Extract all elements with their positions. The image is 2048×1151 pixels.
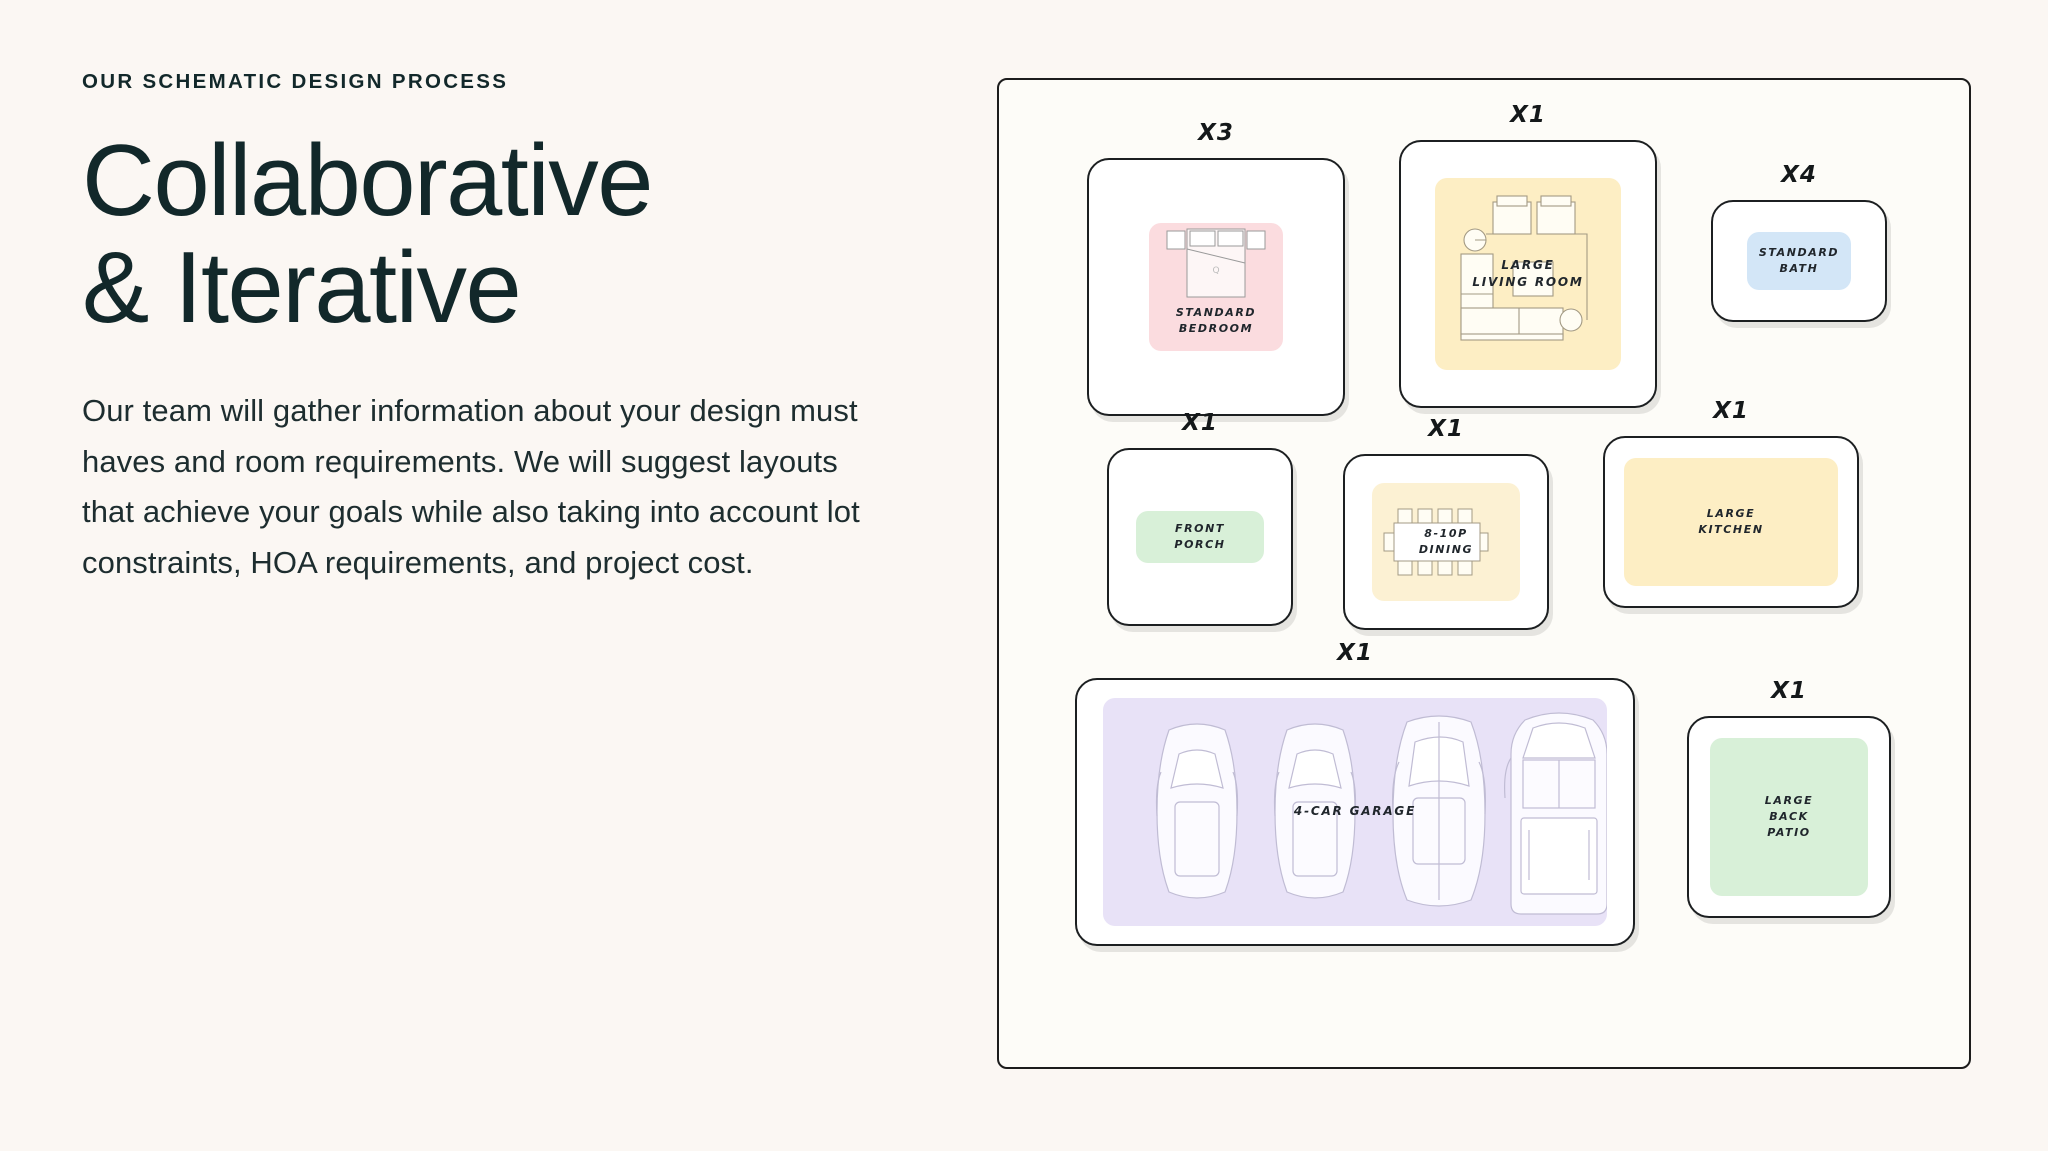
room-swatch-standard-bath: STANDARD BATH [1747, 232, 1851, 290]
headline-line-2: & Iterative [82, 235, 872, 342]
room-qty-front-porch: X1 [1182, 410, 1218, 436]
room-swatch-dining: 8-10P DINING [1372, 483, 1520, 601]
page-title: Collaborative & Iterative [82, 128, 872, 342]
room-label-standard-bedroom: STANDARD BEDROOM [1176, 305, 1256, 337]
room-qty-standard-bedroom: X3 [1198, 120, 1234, 146]
room-swatch-large-living-room: LARGE LIVING ROOM [1435, 178, 1621, 370]
room-card-body[interactable]: LARGE LIVING ROOM [1399, 140, 1657, 408]
room-label-standard-bath: STANDARD BATH [1759, 245, 1839, 277]
room-card-body[interactable]: LARGE KITCHEN [1603, 436, 1859, 608]
room-qty-large-kitchen: X1 [1713, 398, 1749, 424]
room-label-large-living-room: LARGE LIVING ROOM [1472, 257, 1583, 292]
eyebrow-label: OUR SCHEMATIC DESIGN PROCESS [82, 70, 872, 94]
room-swatch-front-porch: FRONT PORCH [1136, 511, 1264, 563]
room-qty-dining: X1 [1428, 416, 1464, 442]
room-qty-standard-bath: X4 [1781, 162, 1817, 188]
room-label-dining: 8-10P DINING [1419, 526, 1473, 558]
svg-text:Q: Q [1212, 266, 1219, 276]
body-paragraph: Our team will gather information about y… [82, 386, 872, 588]
room-card-canvas: X3 Q STANDARD BEDROOM [999, 80, 1969, 1067]
room-swatch-large-kitchen: LARGE KITCHEN [1624, 458, 1838, 586]
headline-line-1: Collaborative [82, 128, 872, 235]
room-swatch-four-car-garage: 4-CAR GARAGE [1103, 698, 1607, 926]
room-card-body[interactable]: FRONT PORCH [1107, 448, 1293, 626]
room-qty-four-car-garage: X1 [1337, 640, 1373, 666]
room-swatch-standard-bedroom: Q STANDARD BEDROOM [1149, 223, 1283, 351]
room-program-panel: X3 Q STANDARD BEDROOM [997, 78, 1971, 1069]
room-card-body[interactable]: 4-CAR GARAGE [1075, 678, 1635, 946]
room-card-body[interactable]: STANDARD BATH [1711, 200, 1887, 322]
intro-text-column: OUR SCHEMATIC DESIGN PROCESS Collaborati… [82, 70, 872, 588]
room-card-body[interactable]: 8-10P DINING [1343, 454, 1549, 630]
room-label-front-porch: FRONT PORCH [1174, 521, 1225, 553]
room-label-large-kitchen: LARGE KITCHEN [1698, 506, 1763, 538]
room-label-large-back-patio: LARGE BACK PATIO [1765, 793, 1814, 841]
room-card-body[interactable]: Q STANDARD BEDROOM [1087, 158, 1345, 416]
room-label-four-car-garage: 4-CAR GARAGE [1294, 803, 1416, 820]
room-swatch-large-back-patio: LARGE BACK PATIO [1710, 738, 1868, 896]
room-card-body[interactable]: LARGE BACK PATIO [1687, 716, 1891, 918]
room-qty-large-living-room: X1 [1510, 102, 1546, 128]
room-qty-large-back-patio: X1 [1771, 678, 1807, 704]
